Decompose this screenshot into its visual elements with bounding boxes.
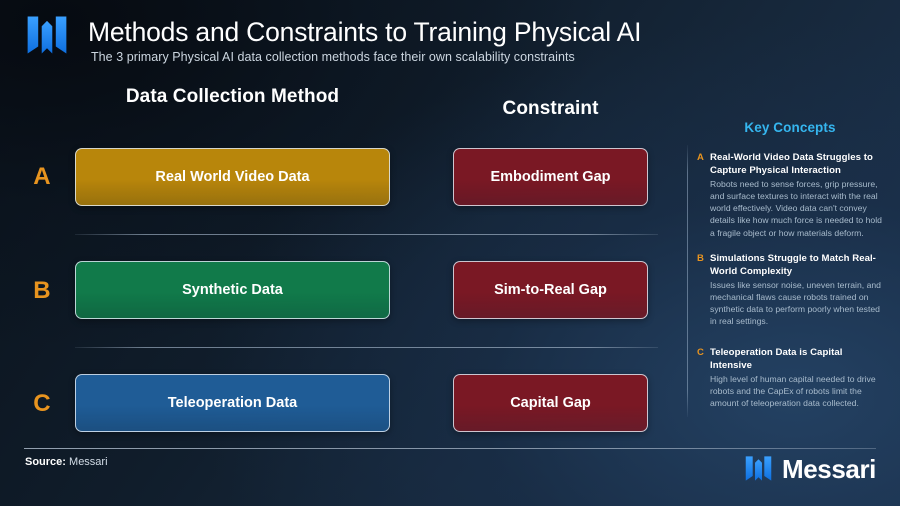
method-box-a[interactable]: Real World Video Data (75, 148, 390, 206)
source-credit: Source: Messari (25, 456, 108, 468)
constraint-box-a[interactable]: Embodiment Gap (453, 148, 648, 206)
row-letter-c: C (24, 390, 60, 418)
row-letter-b: B (24, 277, 60, 305)
column-header-key-concepts: Key Concepts (700, 119, 880, 136)
key-concept-letter-c: C (697, 347, 708, 360)
key-concept-b: B Simulations Struggle to Match Real-Wor… (697, 253, 887, 328)
key-concept-a: A Real-World Video Data Struggles to Cap… (697, 152, 887, 239)
key-concept-letter-a: A (697, 152, 708, 165)
source-label: Source: (25, 456, 66, 468)
footer-divider (24, 448, 876, 449)
column-header-constraint: Constraint (453, 97, 648, 121)
key-concepts-divider (687, 145, 688, 417)
header: Methods and Constraints to Training Phys… (0, 0, 900, 78)
key-concept-body-b: Issues like sensor noise, uneven terrain… (710, 279, 887, 328)
page-title: Methods and Constraints to Training Phys… (88, 17, 641, 48)
infographic-canvas: Methods and Constraints to Training Phys… (0, 0, 900, 506)
page-subtitle: The 3 primary Physical AI data collectio… (91, 50, 575, 64)
source-value: Messari (69, 456, 108, 468)
row-letter-a: A (24, 163, 60, 191)
key-concept-title-a: Real-World Video Data Struggles to Captu… (710, 152, 887, 178)
key-concept-letter-b: B (697, 253, 708, 266)
brand-name: Messari (782, 456, 876, 482)
key-concept-c: C Teleoperation Data is Capital Intensiv… (697, 347, 887, 409)
key-concept-body-c: High level of human capital needed to dr… (710, 373, 887, 410)
brand-lockup: Messari (744, 454, 876, 483)
messari-m-logo-icon (25, 13, 69, 57)
row-divider-2 (75, 347, 658, 348)
row-divider-1 (75, 234, 658, 235)
constraint-box-b[interactable]: Sim-to-Real Gap (453, 261, 648, 319)
key-concept-body-a: Robots need to sense forces, grip pressu… (710, 178, 887, 239)
constraint-box-c[interactable]: Capital Gap (453, 374, 648, 432)
key-concept-title-c: Teleoperation Data is Capital Intensive (710, 347, 887, 373)
method-box-c[interactable]: Teleoperation Data (75, 374, 390, 432)
messari-m-logo-icon (744, 454, 773, 483)
column-header-method: Data Collection Method (75, 85, 390, 109)
key-concept-title-b: Simulations Struggle to Match Real-World… (710, 253, 887, 279)
method-box-b[interactable]: Synthetic Data (75, 261, 390, 319)
